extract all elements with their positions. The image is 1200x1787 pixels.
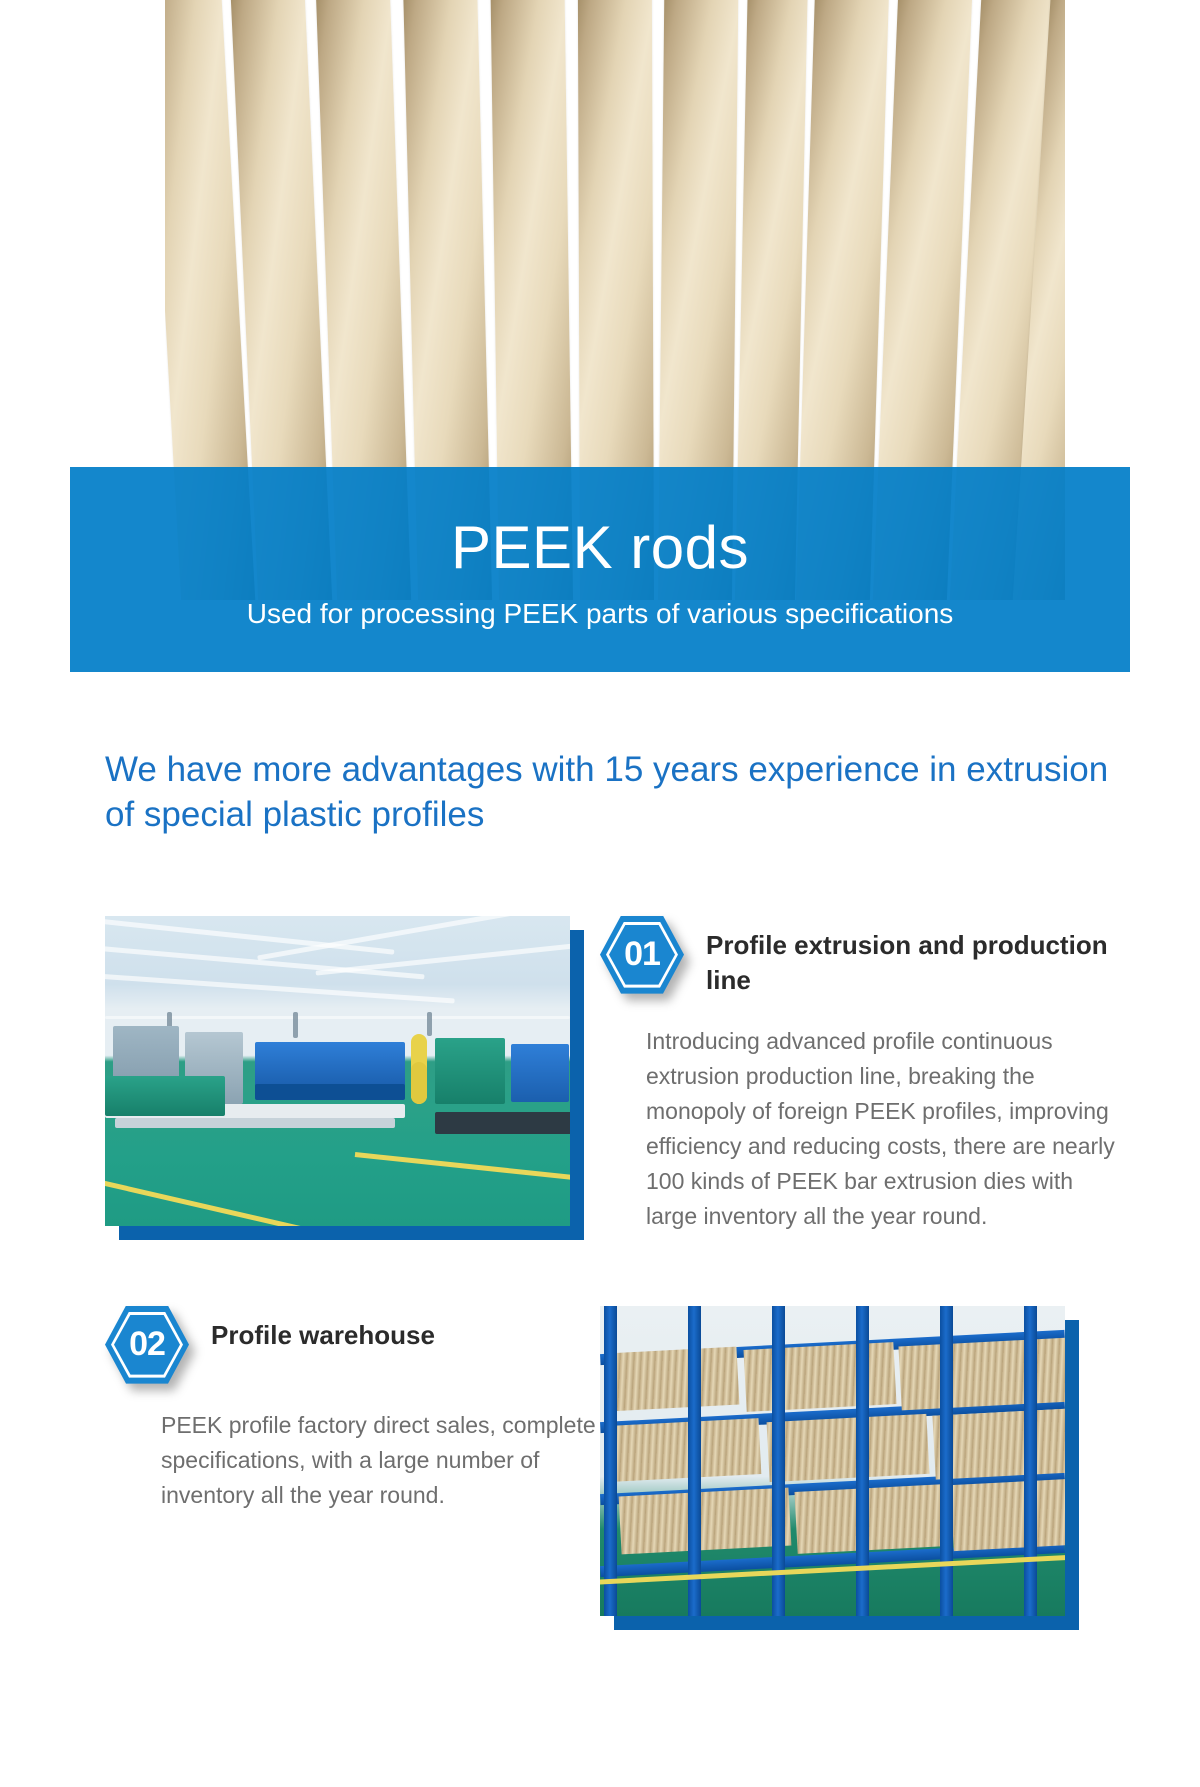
feature-title-01: Profile extrusion and production line bbox=[706, 916, 1130, 998]
feature-02-text: 02 Profile warehouse PEEK profile factor… bbox=[105, 1306, 605, 1513]
hero-title-band: PEEK rods Used for processing PEEK parts… bbox=[70, 467, 1130, 672]
extrusion-line-photo bbox=[105, 916, 570, 1226]
feature-body-02: PEEK profile factory direct sales, compl… bbox=[161, 1408, 605, 1513]
feature-02-image-frame bbox=[600, 1306, 1065, 1616]
warehouse-photo bbox=[600, 1306, 1065, 1616]
feature-number-01: 01 bbox=[600, 916, 684, 994]
page-title: PEEK rods bbox=[451, 518, 749, 578]
advantages-heading: We have more advantages with 15 years ex… bbox=[70, 672, 1130, 838]
hero-banner: PEEK rods Used for processing PEEK parts… bbox=[70, 0, 1130, 672]
feature-number-02: 02 bbox=[105, 1306, 189, 1384]
feature-block-02: 02 Profile warehouse PEEK profile factor… bbox=[70, 1306, 1130, 1636]
feature-01-text: 01 Profile extrusion and production line… bbox=[600, 916, 1130, 1234]
feature-01-image-frame bbox=[105, 916, 570, 1226]
feature-title-02: Profile warehouse bbox=[211, 1306, 605, 1353]
feature-number-badge-01: 01 bbox=[600, 916, 684, 994]
feature-number-badge-02: 02 bbox=[105, 1306, 189, 1384]
page-subtitle: Used for processing PEEK parts of variou… bbox=[247, 600, 954, 628]
feature-block-01: 01 Profile extrusion and production line… bbox=[70, 916, 1130, 1246]
feature-body-01: Introducing advanced profile continuous … bbox=[646, 1024, 1130, 1234]
